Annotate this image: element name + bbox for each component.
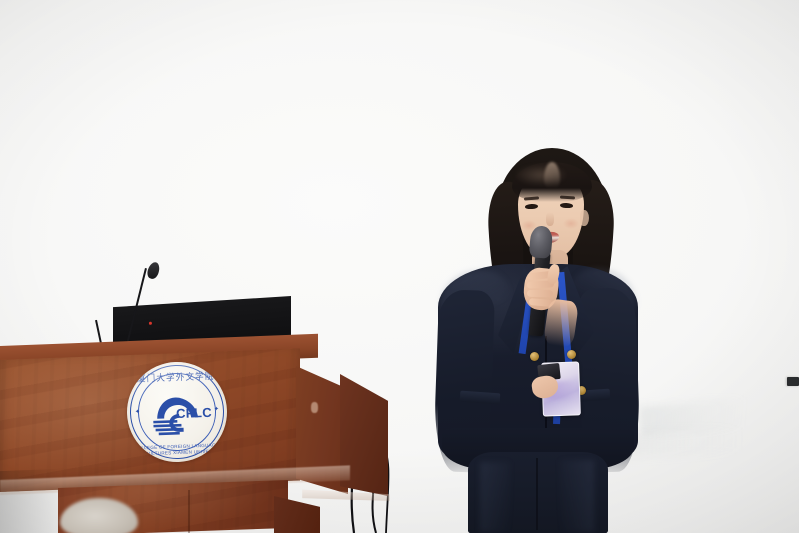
speaker-figure bbox=[420, 140, 650, 533]
ear bbox=[580, 210, 589, 226]
podium-column-right bbox=[274, 496, 320, 533]
podium-hardware-nub bbox=[311, 402, 318, 413]
cflc-emblem: 厦门大学外文学院 ✦ ✦ CFLC COLLEGE OF FOREIGN LAN… bbox=[125, 360, 228, 463]
trouser-crease bbox=[536, 458, 538, 530]
handheld-microphone-head bbox=[529, 225, 554, 259]
emblem-abbreviation: CFLC bbox=[176, 405, 212, 421]
trouser-highlight-right bbox=[560, 460, 594, 532]
eye-right bbox=[560, 203, 573, 209]
blazer-button-2 bbox=[567, 350, 576, 359]
podium-column-seam bbox=[188, 490, 190, 533]
cheek-right bbox=[563, 218, 579, 229]
finger-3 bbox=[527, 290, 553, 297]
blazer-button-1 bbox=[530, 352, 539, 361]
photo-canvas: 厦门大学外文学院 ✦ ✦ CFLC COLLEGE OF FOREIGN LAN… bbox=[0, 0, 799, 533]
nose bbox=[546, 212, 554, 226]
wall-fixture-icon bbox=[787, 377, 799, 386]
hair-highlight bbox=[514, 164, 568, 186]
trouser-highlight-left bbox=[480, 462, 510, 532]
podium-shadow bbox=[0, 469, 60, 533]
